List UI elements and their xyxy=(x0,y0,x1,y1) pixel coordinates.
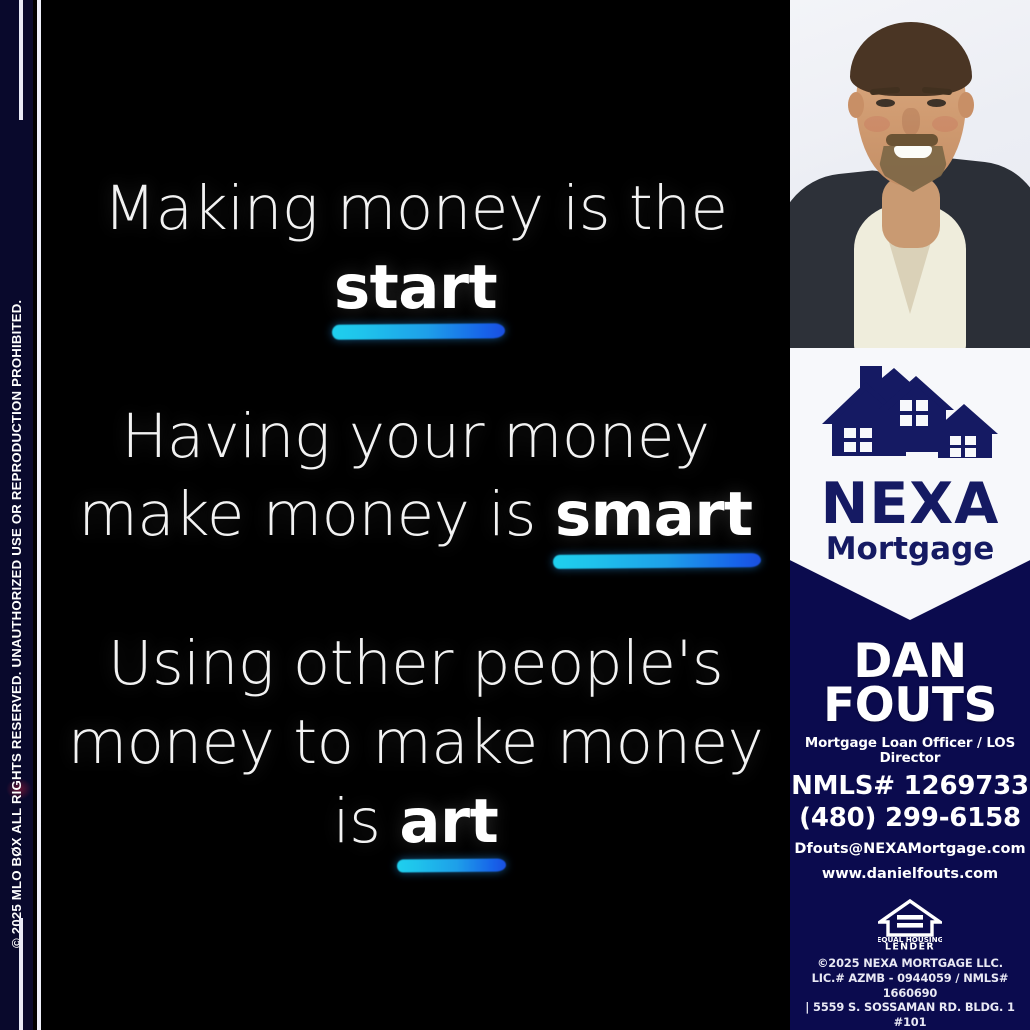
agent-last-name: FOUTS xyxy=(790,684,1030,728)
quote-keyword-prefix: make money is xyxy=(78,479,554,550)
agent-website-url[interactable]: www.danielfouts.com xyxy=(790,866,1030,882)
rail-divider-line-top xyxy=(19,0,23,120)
legal-line-1: ©2025 NEXA MORTGAGE LLC. xyxy=(796,956,1024,971)
quote-line: Making money is the xyxy=(59,169,772,248)
keyword-underline-stroke xyxy=(553,553,761,569)
nexa-house-logo-icon xyxy=(820,360,1000,480)
copyright-rail-text: © 2025 MLO BØX ALL RIGHTS RESERVED. UNAU… xyxy=(0,0,33,1030)
headshot-moustache xyxy=(886,134,938,146)
headshot-ear-left xyxy=(848,92,864,118)
quote-keyword-prefix: is xyxy=(333,786,400,857)
headshot-smile xyxy=(894,146,932,158)
quote-keyword: smart xyxy=(555,479,753,550)
headshot-nose xyxy=(902,108,920,136)
quote-list: Making money is the start Having your mo… xyxy=(41,0,790,1030)
agent-email-address[interactable]: Dfouts@NEXAMortgage.com xyxy=(790,841,1030,857)
quote-keyword: start xyxy=(334,252,497,323)
quote-keyword-wrap: art xyxy=(399,783,498,861)
agent-job-title: Mortgage Loan Officer / LOS Director xyxy=(790,736,1030,766)
quote-line: money to make money xyxy=(59,703,772,782)
headshot-hair xyxy=(850,22,972,96)
keyword-underline-stroke xyxy=(332,323,505,340)
legal-line-2: LIC.# AZMB - 0944059 / NMLS# 1660690 xyxy=(796,971,1024,1001)
legal-line-3: | 5559 S. SOSSAMAN RD. BLDG. 1 #101 xyxy=(796,1000,1024,1030)
keyword-underline-stroke xyxy=(397,858,506,872)
quote-line: Having your money xyxy=(59,397,772,476)
rail-divider-line-bottom xyxy=(19,918,23,1030)
brand-name-mortgage: Mortgage xyxy=(790,534,1030,565)
headshot-ear-right xyxy=(958,92,974,118)
agent-nmls-number: NMLS# 1269733 xyxy=(790,771,1030,801)
quote-keyword-line: is art xyxy=(59,783,772,861)
agent-contact-block: DAN FOUTS Mortgage Loan Officer / LOS Di… xyxy=(790,640,1030,882)
quote-block: Using other people's money to make money… xyxy=(59,624,772,861)
agent-headshot-photo xyxy=(790,0,1030,348)
headshot-eye-left xyxy=(876,99,895,107)
quote-keyword-wrap: start xyxy=(334,249,497,327)
quote-keyword-line: make money is smart xyxy=(59,476,772,554)
quote-keyword-line: start xyxy=(59,249,772,327)
legal-disclaimer: ©2025 NEXA MORTGAGE LLC. LIC.# AZMB - 09… xyxy=(796,956,1024,1030)
brand-logo-plate: NEXA Mortgage xyxy=(790,348,1030,620)
quote-stage: Making money is the start Having your mo… xyxy=(41,0,790,1030)
headshot-cheek-left xyxy=(864,116,890,132)
equal-housing-lender-icon: EQUAL HOUSING LENDER xyxy=(878,898,942,950)
headshot-eye-right xyxy=(927,99,946,107)
quote-line: Using other people's xyxy=(59,624,772,703)
quote-keyword-wrap: smart xyxy=(555,476,753,554)
quote-block: Making money is the start xyxy=(59,169,772,326)
poster-canvas: © 2025 MLO BØX ALL RIGHTS RESERVED. UNAU… xyxy=(0,0,1030,1030)
quote-keyword: art xyxy=(399,786,498,857)
brand-name-nexa: NEXA xyxy=(790,476,1030,533)
agent-phone-number[interactable]: (480) 299-6158 xyxy=(790,803,1030,833)
quote-block: Having your money make money is smart xyxy=(59,397,772,554)
agent-panel: NEXA Mortgage DAN FOUTS Mortgage Loan Of… xyxy=(790,0,1030,1030)
headshot-cheek-right xyxy=(932,116,958,132)
svg-text:LENDER: LENDER xyxy=(885,941,935,950)
copyright-rail: © 2025 MLO BØX ALL RIGHTS RESERVED. UNAU… xyxy=(0,0,33,1030)
